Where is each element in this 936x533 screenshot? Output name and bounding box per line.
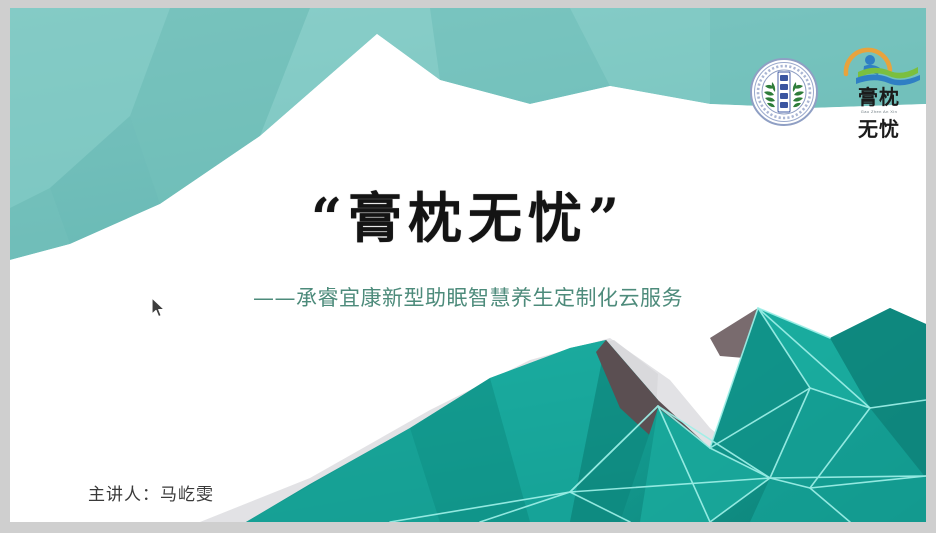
brand-line-1: 膏枕: [836, 87, 922, 107]
speaker-block: 主讲人：马屹雯: [88, 480, 214, 505]
brand-tagline: Gao Zhen An Xin: [836, 109, 922, 114]
subtitle: ——承睿宜康新型助眠智慧养生定制化云服务: [10, 286, 926, 310]
gaozhen-wuyou-brand-logo: 膏枕 Gao Zhen An Xin 无忧: [836, 40, 922, 150]
speaker-name: 主讲人：马屹雯: [88, 480, 214, 505]
screen-letterbox: 膏枕 Gao Zhen An Xin 无忧 “膏枕无忧” ——承睿宜康新型助眠智…: [0, 0, 936, 533]
presentation-slide: 膏枕 Gao Zhen An Xin 无忧 “膏枕无忧” ——承睿宜康新型助眠智…: [10, 8, 926, 522]
chengrui-yikang-seal-logo: [750, 58, 818, 126]
subtitle-block: ——承睿宜康新型助眠智慧养生定制化云服务: [10, 286, 926, 310]
brand-line-2: 无忧: [836, 119, 922, 139]
